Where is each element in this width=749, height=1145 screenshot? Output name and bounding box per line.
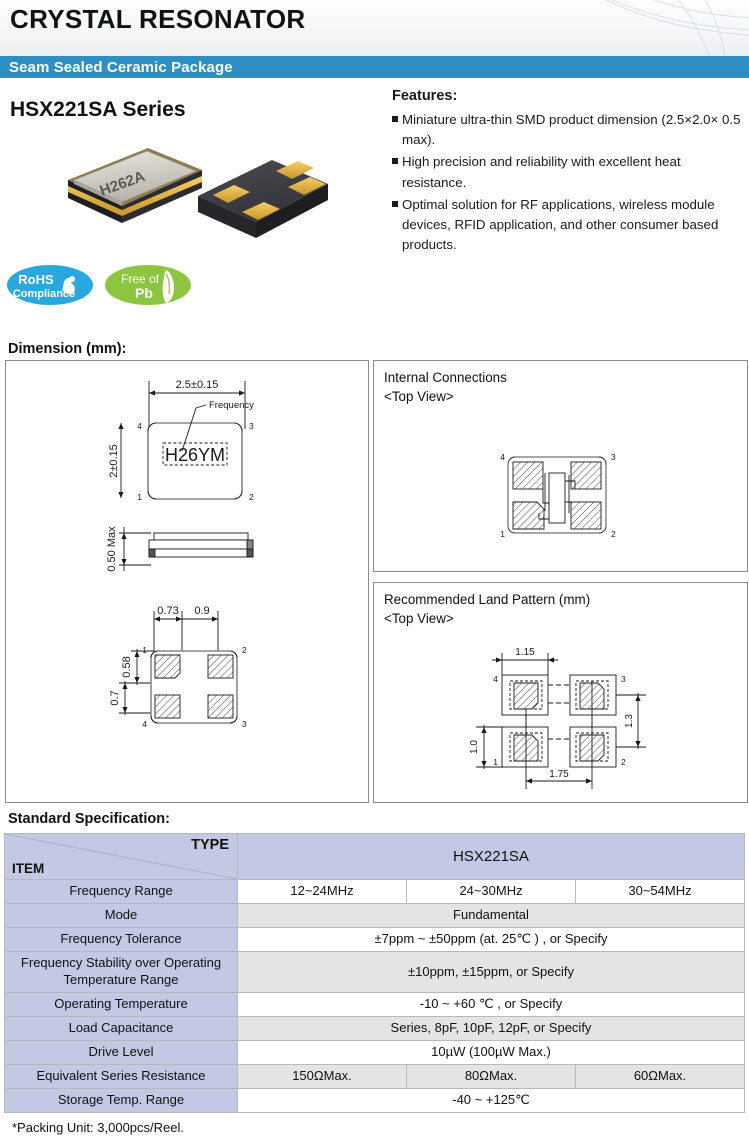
header-type-label: TYPE: [191, 837, 229, 853]
pin-label-1: 1: [493, 757, 498, 767]
top-view-callout: Frequency: [209, 400, 254, 411]
rohs-line2: Compliance: [13, 288, 75, 300]
pin-label-2: 2: [621, 757, 626, 767]
table-row: ModeFundamental: [5, 904, 745, 928]
bullet-square-icon: [392, 116, 398, 122]
table-cell-item: Operating Temperature: [5, 993, 238, 1017]
table-cell-value: 80ΩMax.: [407, 1065, 576, 1089]
table-cell-value: 150ΩMax.: [238, 1065, 407, 1089]
bullet-square-icon: [392, 201, 398, 207]
table-row: Drive Level10µW (100µW Max.): [5, 1041, 745, 1065]
pbfree-line1: Free of: [121, 272, 160, 286]
pbfree-line2: Pb: [135, 285, 153, 301]
top-view-marking: H26YM: [165, 445, 225, 465]
top-view-height-dim: 2±0.15: [108, 444, 120, 478]
header-decoration-swoosh: [549, 0, 749, 56]
features-title: Features:: [392, 88, 742, 104]
bottom-view-dim-d: 0.7: [109, 690, 121, 705]
table-cell-value: ±7ppm ~ ±50ppm (at. 25℃ ) , or Specify: [238, 928, 745, 952]
table-cell-value: 60ΩMax.: [576, 1065, 745, 1089]
internal-connections-drawing: 4 3 1 2: [374, 361, 747, 571]
table-row: Equivalent Series Resistance150ΩMax.80ΩM…: [5, 1065, 745, 1089]
dimension-drawings: 2.5±0.15 2±0.15 H26YM Frequency 4 3: [6, 361, 368, 802]
table-row: Frequency Range12~24MHz24~30MHz30~54MHz: [5, 880, 745, 904]
pb-free-badge: Free of Pb: [104, 264, 192, 306]
side-view-height-dim: 0.50 Max: [106, 526, 118, 572]
feature-text: High precision and reliability with exce…: [402, 152, 742, 192]
spec-section-label: Standard Specification:: [8, 811, 749, 827]
packing-footnote: *Packing Unit: 3,000pcs/Reel.: [12, 1120, 745, 1135]
dimension-drawing-panel: 2.5±0.15 2±0.15 H26YM Frequency 4 3: [5, 360, 369, 803]
table-cell-value: ±10ppm, ±15ppm, or Specify: [238, 952, 745, 993]
crystal-package-bottom: [198, 160, 328, 238]
table-cell-item: Frequency Tolerance: [5, 928, 238, 952]
bottom-view-dim-b: 0.9: [194, 605, 209, 617]
drawing-panels: 2.5±0.15 2±0.15 H26YM Frequency 4 3: [4, 360, 745, 803]
table-cell-item: Storage Temp. Range: [5, 1089, 238, 1113]
table-cell-item: Frequency Stability over Operating Tempe…: [5, 952, 238, 993]
crystal-package-top: H262A: [68, 148, 202, 223]
bottom-view-dim-a: 0.73: [157, 605, 178, 617]
internal-connections-panel: Internal Connections <Top View>: [373, 360, 748, 572]
header-item-label: ITEM: [12, 861, 44, 876]
pin-label-3: 3: [611, 452, 616, 462]
specification-table: TYPE ITEM HSX221SA Frequency Range12~24M…: [4, 833, 745, 1113]
table-cell-value: Fundamental: [238, 904, 745, 928]
land-pattern-panel: Recommended Land Pattern (mm) <Top View>…: [373, 582, 748, 803]
land-dim-right: 1.3: [624, 714, 635, 728]
pin-label-1: 1: [142, 645, 147, 655]
product-photo: H262A: [20, 126, 350, 256]
pin-label-2: 2: [249, 492, 254, 502]
feature-text: Optimal solution for RF applications, wi…: [402, 195, 742, 256]
table-header-row: TYPE ITEM HSX221SA: [5, 834, 745, 880]
feature-item: Miniature ultra-thin SMD product dimensi…: [392, 110, 742, 150]
pin-label-2: 2: [611, 529, 616, 539]
pin-label-2: 2: [242, 645, 247, 655]
top-view-width-dim: 2.5±0.15: [176, 379, 219, 391]
land-pattern-drawing: 1.15: [374, 583, 747, 802]
page-header: CRYSTAL RESONATOR: [0, 0, 749, 56]
header-item-type-cell: TYPE ITEM: [5, 834, 238, 880]
rohs-line1: RoHS: [18, 272, 54, 287]
pin-label-4: 4: [142, 719, 147, 729]
pin-label-1: 1: [500, 529, 505, 539]
spec-table-wrap: TYPE ITEM HSX221SA Frequency Range12~24M…: [4, 833, 745, 1135]
table-row: Storage Temp. Range-40 ~ +125℃: [5, 1089, 745, 1113]
features-block: Features: Miniature ultra-thin SMD produ…: [392, 88, 742, 257]
table-cell-value: 24~30MHz: [407, 880, 576, 904]
table-row: Load CapacitanceSeries, 8pF, 10pF, 12pF,…: [5, 1017, 745, 1041]
pin-label-1: 1: [137, 492, 142, 502]
compliance-badges: RoHS Compliance Free of Pb: [6, 264, 192, 306]
series-title: HSX221SA Series: [10, 98, 186, 122]
pin-label-3: 3: [242, 719, 247, 729]
product-overview-section: HSX221SA Series: [0, 78, 749, 341]
table-cell-value: Series, 8pF, 10pF, 12pF, or Specify: [238, 1017, 745, 1041]
feature-text: Miniature ultra-thin SMD product dimensi…: [402, 110, 742, 150]
table-cell-item: Load Capacitance: [5, 1017, 238, 1041]
table-cell-value: 10µW (100µW Max.): [238, 1041, 745, 1065]
rohs-badge: RoHS Compliance: [6, 264, 94, 306]
pin-label-4: 4: [500, 452, 505, 462]
dimension-section-label: Dimension (mm):: [8, 341, 749, 357]
banner-label: Seam Sealed Ceramic Package: [0, 59, 233, 76]
table-row: Frequency Stability over Operating Tempe…: [5, 952, 745, 993]
feature-item: Optimal solution for RF applications, wi…: [392, 195, 742, 256]
table-cell-value: 12~24MHz: [238, 880, 407, 904]
header-type-name: HSX221SA: [238, 834, 745, 880]
table-cell-item: Frequency Range: [5, 880, 238, 904]
pin-label-4: 4: [137, 421, 142, 431]
bottom-view-dim-c: 0.58: [121, 656, 133, 677]
land-dim-top: 1.15: [515, 647, 535, 658]
table-cell-item: Drive Level: [5, 1041, 238, 1065]
pin-label-3: 3: [249, 421, 254, 431]
pin-label-3: 3: [621, 674, 626, 684]
land-dim-left: 1.0: [469, 740, 480, 754]
table-cell-value: -10 ~ +60 ℃ , or Specify: [238, 993, 745, 1017]
table-row: Operating Temperature-10 ~ +60 ℃ , or Sp…: [5, 993, 745, 1017]
feature-item: High precision and reliability with exce…: [392, 152, 742, 192]
bullet-square-icon: [392, 158, 398, 164]
pin-label-4: 4: [493, 674, 498, 684]
subtitle-banner: Seam Sealed Ceramic Package: [0, 56, 749, 78]
land-dim-bottom: 1.75: [549, 769, 569, 780]
page-title: CRYSTAL RESONATOR: [10, 4, 305, 35]
table-cell-item: Mode: [5, 904, 238, 928]
table-cell-item: Equivalent Series Resistance: [5, 1065, 238, 1089]
table-row: Frequency Tolerance±7ppm ~ ±50ppm (at. 2…: [5, 928, 745, 952]
table-cell-value: -40 ~ +125℃: [238, 1089, 745, 1113]
table-cell-value: 30~54MHz: [576, 880, 745, 904]
